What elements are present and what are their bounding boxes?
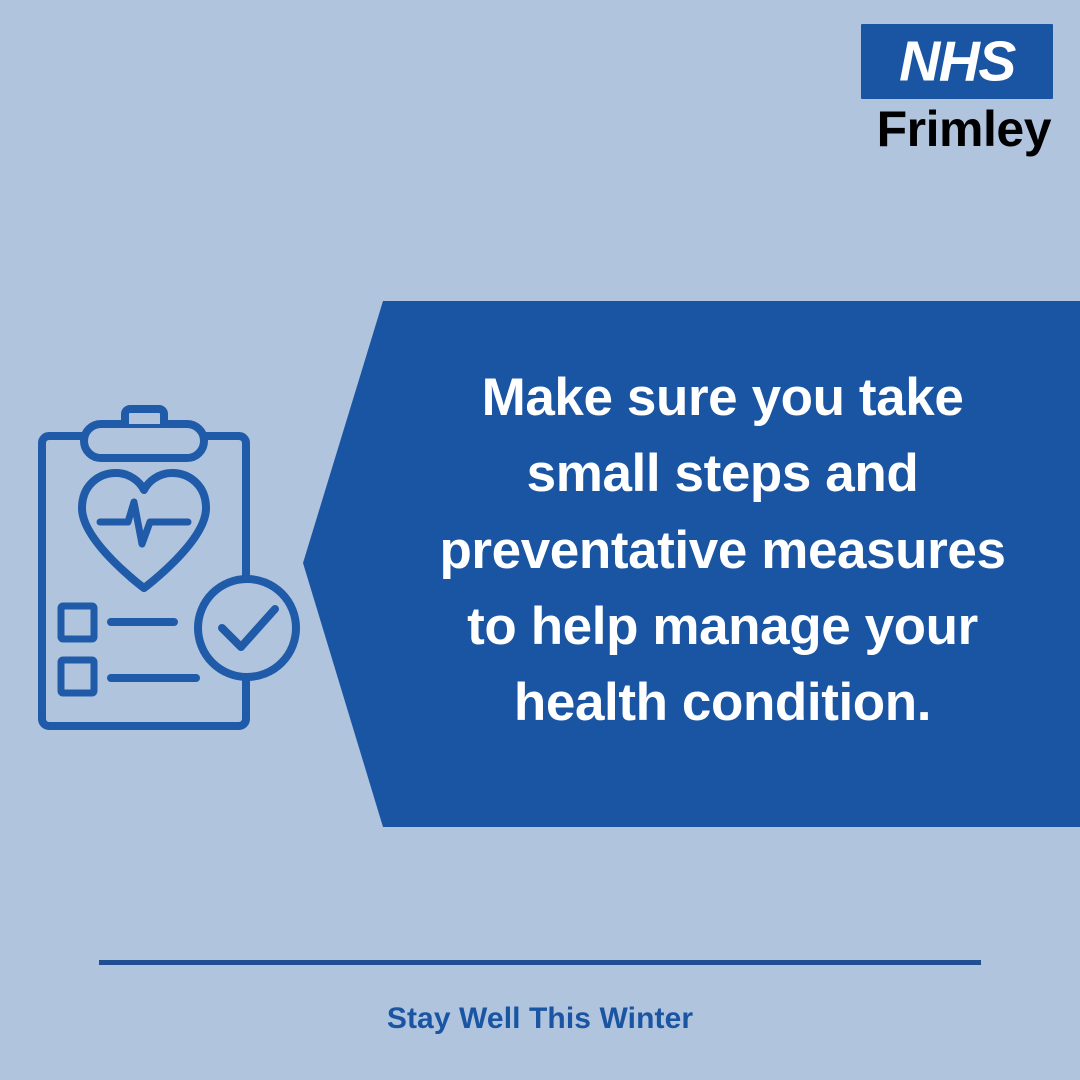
heart-pulse-line (100, 502, 188, 544)
check-circle-outline (198, 579, 296, 677)
clipboard-health-checklist-icon (28, 398, 308, 733)
clipboard-clip-bar (84, 424, 204, 458)
headline-text: Make sure you take small steps and preve… (395, 360, 1050, 742)
clipboard-board (42, 436, 246, 726)
footer: Stay Well This Winter (0, 960, 1080, 1036)
clipboard-icon-svg (28, 398, 308, 733)
footer-divider (99, 960, 981, 965)
nhs-logo-badge: NHS (861, 24, 1053, 99)
poster-canvas: NHS Frimley (0, 0, 1080, 1080)
clipboard-clip-tab (125, 409, 164, 424)
nhs-trust-name: Frimley (861, 104, 1053, 155)
footer-tagline: Stay Well This Winter (0, 1002, 1080, 1036)
nhs-logo-badge-text: NHS (861, 33, 1053, 90)
checkbox-square-2 (61, 660, 94, 693)
checkbox-square-1 (61, 606, 94, 639)
nhs-logo: NHS Frimley (861, 24, 1053, 155)
